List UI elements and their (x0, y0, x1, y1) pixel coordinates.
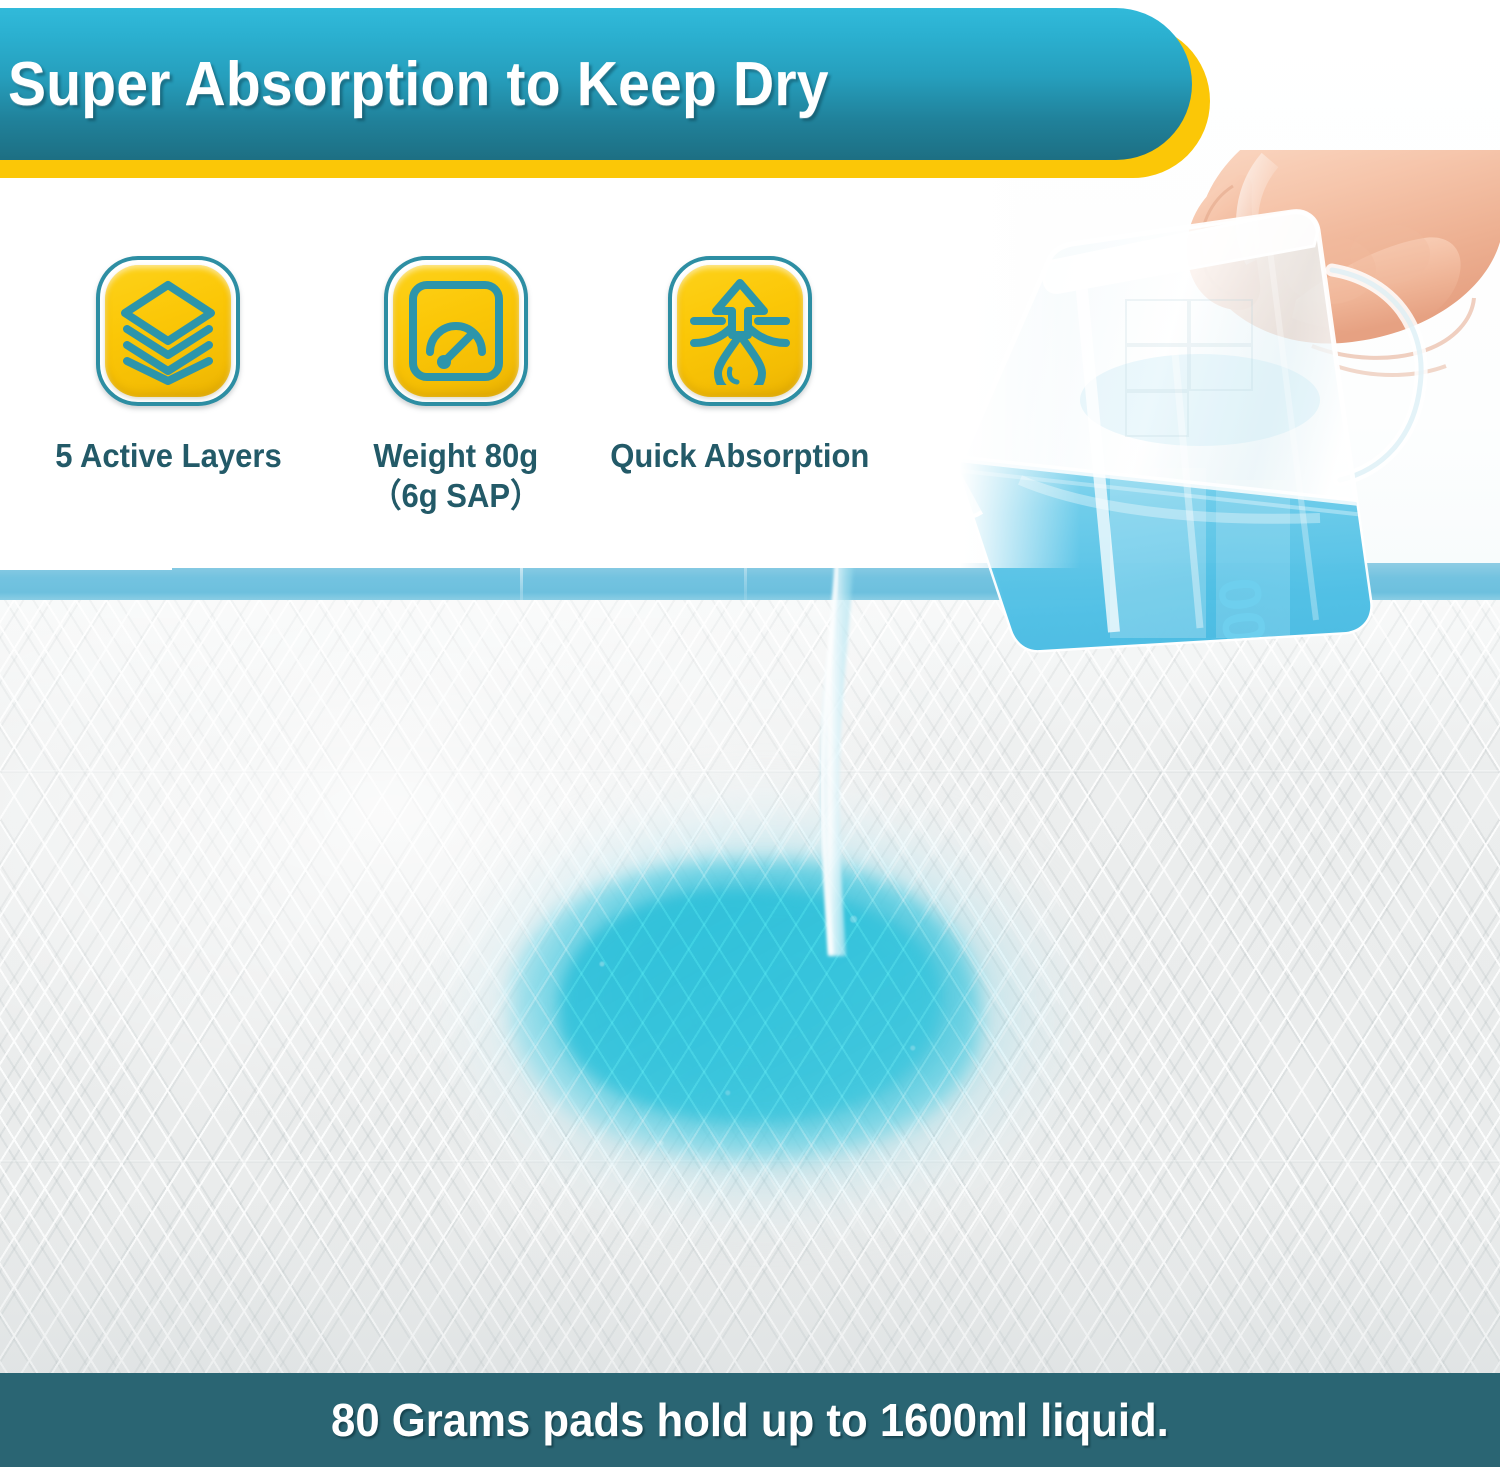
feature-absorption[interactable]: Quick Absorption (594, 168, 886, 476)
pouring-liquid-stream (806, 556, 862, 956)
feature-weight[interactable]: Weight 80g （6g SAP） (310, 168, 602, 517)
backing-crease (520, 563, 523, 605)
footer-caption: 80 Grams pads hold up to 1600ml liquid. (331, 1393, 1169, 1447)
feature-label: Quick Absorption (610, 436, 869, 476)
pool-bubbles (380, 740, 1120, 1300)
features-card: 5 Active Layers (0, 168, 960, 568)
feature-layers[interactable]: 5 Active Layers (22, 168, 314, 476)
page-title: Super Absorption to Keep Dry (8, 49, 829, 120)
absorbed-liquid-pool (380, 740, 1120, 1300)
infographic-stage: 00ml (0, 0, 1500, 1467)
header-banner: Super Absorption to Keep Dry (0, 0, 1500, 200)
feature-label: Weight 80g （6g SAP） (371, 436, 542, 517)
weight-gauge-icon (406, 278, 506, 384)
feature-icon-badge (96, 256, 240, 406)
feature-label: 5 Active Layers (55, 436, 281, 476)
pitcher-scale-text: 00ml (1205, 574, 1286, 717)
footer-banner: 80 Grams pads hold up to 1600ml liquid. (0, 1373, 1500, 1467)
backing-crease (744, 563, 747, 605)
header-pill: Super Absorption to Keep Dry (0, 8, 1192, 160)
feature-label-sub: （6g SAP） (371, 476, 542, 516)
quick-absorption-icon (688, 277, 792, 385)
feature-icon-badge (384, 256, 528, 406)
layers-stack-icon (117, 277, 219, 385)
features-row: 5 Active Layers (0, 168, 960, 568)
feature-icon-badge (668, 256, 812, 406)
feature-label-main: Weight 80g (374, 437, 539, 474)
